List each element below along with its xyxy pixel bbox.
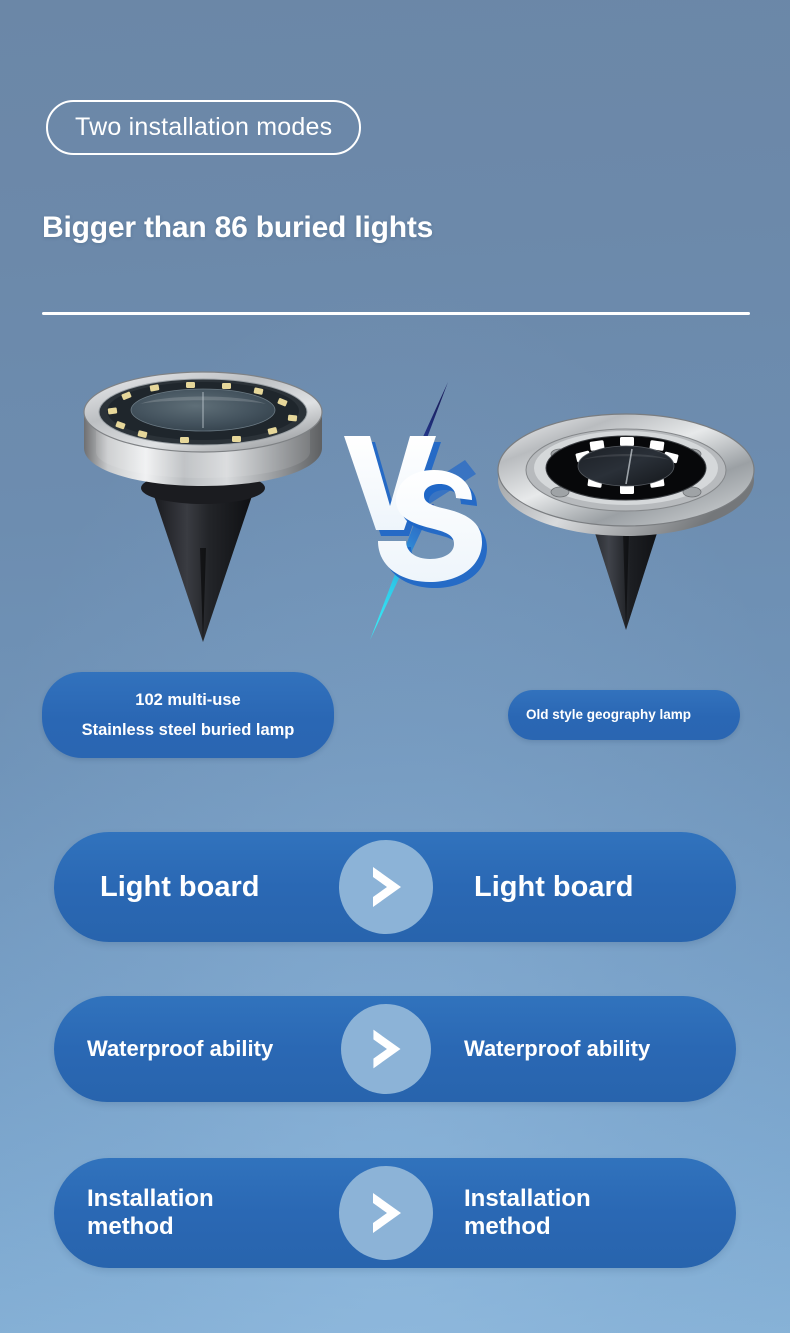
comparison-right-label: Waterproof ability <box>464 1036 714 1062</box>
versus-graphic <box>330 378 495 643</box>
chevron-right-icon <box>356 857 416 917</box>
comparison-left-label: Waterproof ability <box>87 1036 367 1062</box>
infographic-page: Two installation modes Bigger than 86 bu… <box>0 0 790 1333</box>
comparison-row-waterproof-ability: Waterproof ability Waterproof ability <box>54 996 736 1102</box>
greater-than-icon <box>339 840 433 934</box>
header-divider <box>42 312 750 315</box>
comparison-right-label: Installation method <box>464 1185 714 1242</box>
product-caption-right: Old style geography lamp <box>508 690 740 740</box>
comparison-left-label: Light board <box>100 870 370 904</box>
comparison-right-label: Light board <box>474 870 724 904</box>
caption-left-line1: 102 multi-use <box>135 691 240 710</box>
comparison-row-installation-method: Installation method Installation method <box>54 1158 736 1268</box>
stainless-steel-buried-lamp-illustration <box>72 352 334 644</box>
greater-than-icon <box>339 1166 433 1260</box>
chevron-right-icon <box>356 1183 416 1243</box>
product-image-right <box>492 362 760 632</box>
comparison-left-label: Installation method <box>87 1185 347 1242</box>
caption-left-line2: Stainless steel buried lamp <box>82 721 295 740</box>
installation-modes-badge: Two installation modes <box>46 100 361 155</box>
vs-logo <box>330 378 495 643</box>
page-headline: Bigger than 86 buried lights <box>42 211 433 245</box>
chevron-right-icon <box>357 1020 415 1078</box>
caption-right-line1: Old style geography lamp <box>526 706 691 723</box>
comparison-row-light-board: Light board Light board <box>54 832 736 942</box>
product-caption-left: 102 multi-use Stainless steel buried lam… <box>42 672 334 758</box>
greater-than-icon <box>341 1004 431 1094</box>
product-image-left <box>72 352 334 644</box>
old-style-geography-lamp-illustration <box>492 362 760 632</box>
